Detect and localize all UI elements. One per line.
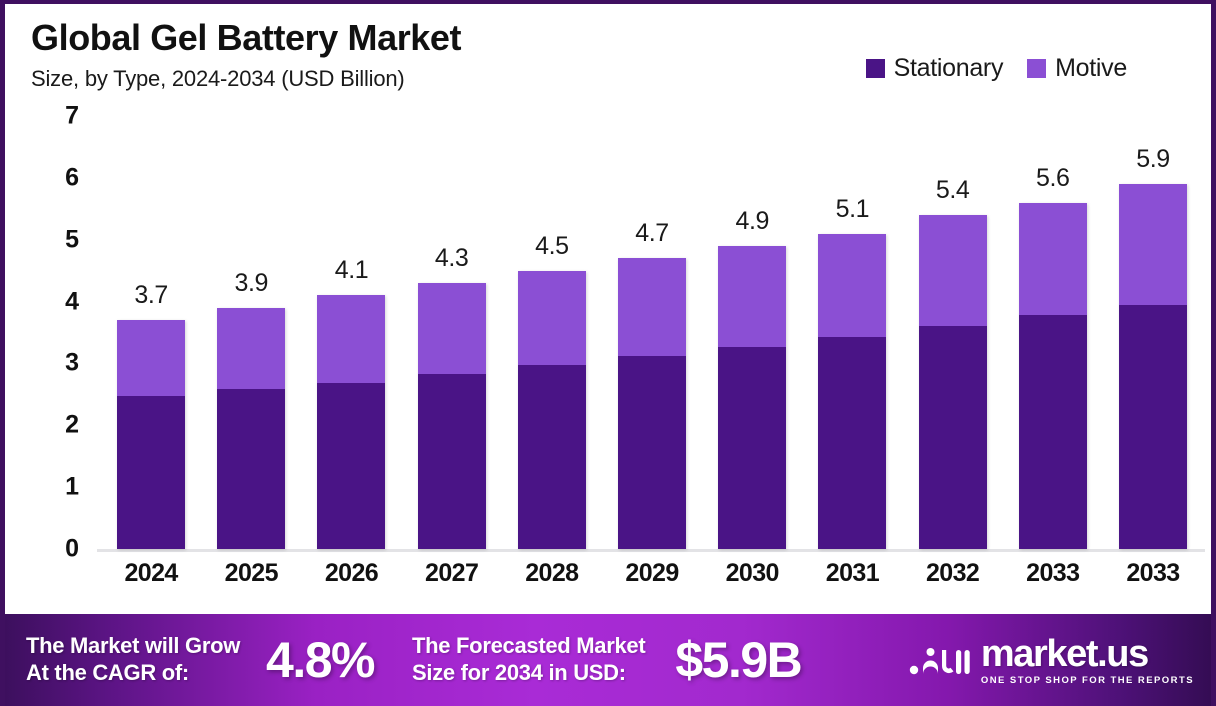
y-axis-tick: 7 [65,102,79,131]
bar-stack[interactable] [518,271,586,549]
logo-wordmark: market.us [981,635,1148,673]
bar-stack[interactable] [1119,184,1187,549]
bar-stack[interactable] [317,295,385,549]
x-axis-tick: 2027 [402,559,502,588]
bar-column[interactable]: 3.7 [101,116,201,549]
y-axis-tick: 1 [65,473,79,502]
bar-segment-stationary[interactable] [618,356,686,549]
bar-column[interactable]: 3.9 [201,116,301,549]
bar-segment-stationary[interactable] [818,337,886,549]
bar-segment-stationary[interactable] [1019,315,1087,549]
bar-column[interactable]: 4.3 [402,116,502,549]
bar-stack[interactable] [217,308,285,549]
bar-segment-motive[interactable] [1119,184,1187,305]
bar-column[interactable]: 5.9 [1103,116,1203,549]
bar-segment-motive[interactable] [718,246,786,347]
bar-stack[interactable] [919,215,987,549]
x-axis-tick: 2032 [903,559,1003,588]
bar-value-label: 5.4 [936,176,970,205]
bar-segment-motive[interactable] [818,234,886,337]
cagr-label: The Market will Grow At the CAGR of: [26,633,240,687]
bar-stack[interactable] [418,283,486,549]
bar-segment-stationary[interactable] [518,365,586,549]
x-axis-tick: 2029 [602,559,702,588]
bar-stack[interactable] [618,258,686,549]
x-axis-tick: 2028 [502,559,602,588]
bar-column[interactable]: 4.7 [602,116,702,549]
bar-value-label: 4.9 [735,207,769,236]
legend-label-stationary: Stationary [894,54,1004,83]
bar-segment-motive[interactable] [518,271,586,366]
bar-value-label: 4.7 [635,219,669,248]
cagr-label-line2: At the CAGR of: [26,660,240,687]
bar-stack[interactable] [718,246,786,549]
legend-swatch-stationary [866,59,885,78]
bar-segment-motive[interactable] [919,215,987,326]
cagr-label-line1: The Market will Grow [26,633,240,660]
y-axis: 76543210 [5,116,101,551]
forecast-size-label-line1: The Forecasted Market [412,633,645,660]
bar-value-label: 4.5 [535,232,569,261]
bar-segment-stationary[interactable] [217,389,285,549]
bar-value-label: 3.9 [235,269,269,298]
footer-banner: The Market will Grow At the CAGR of: 4.8… [0,614,1216,706]
forecast-size-value: $5.9B [675,631,801,689]
x-axis-baseline [97,549,1205,552]
chart-legend: Stationary Motive [866,54,1127,83]
x-axis: 2024202520262027202820292030203120322033… [101,559,1203,588]
bar-segment-motive[interactable] [317,295,385,382]
bar-value-label: 4.1 [335,256,369,285]
bar-column[interactable]: 5.1 [802,116,902,549]
y-axis-tick: 5 [65,225,79,254]
logo-tagline: ONE STOP SHOP FOR THE REPORTS [981,676,1194,686]
bar-segment-stationary[interactable] [1119,305,1187,549]
x-axis-tick: 2033 [1003,559,1103,588]
page-title: Global Gel Battery Market [31,18,1211,58]
bar-segment-motive[interactable] [1019,203,1087,316]
bar-segment-stationary[interactable] [418,374,486,549]
bar-stack[interactable] [117,320,185,549]
bar-segment-stationary[interactable] [718,347,786,549]
legend-swatch-motive [1027,59,1046,78]
x-axis-tick: 2031 [802,559,902,588]
cagr-value: 4.8% [266,631,374,689]
bar-segment-stationary[interactable] [317,383,385,549]
bar-stack[interactable] [818,234,886,549]
bar-segment-motive[interactable] [117,320,185,396]
bar-value-label: 4.3 [435,244,469,273]
x-axis-tick: 2030 [702,559,802,588]
market-us-logo-icon [909,640,971,680]
x-axis-tick: 2024 [101,559,201,588]
bar-value-label: 5.9 [1136,145,1170,174]
y-axis-tick: 0 [65,535,79,564]
x-axis-tick: 2025 [201,559,301,588]
bar-column[interactable]: 5.4 [903,116,1003,549]
legend-item-motive[interactable]: Motive [1027,54,1127,83]
logo-text: market.us ONE STOP SHOP FOR THE REPORTS [981,635,1194,686]
legend-item-stationary[interactable]: Stationary [866,54,1004,83]
bar-value-label: 5.6 [1036,164,1070,193]
bar-value-label: 3.7 [134,281,168,310]
forecast-size-label: The Forecasted Market Size for 2034 in U… [412,633,645,687]
chart-plot-area: 76543210 3.73.94.14.34.54.74.95.15.45.65… [5,116,1211,606]
bar-segment-stationary[interactable] [919,326,987,549]
bar-group: 3.73.94.14.34.54.74.95.15.45.65.9 [101,116,1203,549]
bar-segment-motive[interactable] [217,308,285,390]
legend-label-motive: Motive [1055,54,1127,83]
bar-segment-motive[interactable] [618,258,686,356]
y-axis-tick: 4 [65,287,79,316]
brand-logo[interactable]: market.us ONE STOP SHOP FOR THE REPORTS [909,635,1194,686]
infographic-root: Global Gel Battery Market Size, by Type,… [0,0,1216,706]
y-axis-tick: 3 [65,349,79,378]
bar-column[interactable]: 5.6 [1003,116,1103,549]
bar-segment-motive[interactable] [418,283,486,374]
bar-stack[interactable] [1019,203,1087,549]
bar-column[interactable]: 4.9 [702,116,802,549]
x-axis-tick: 2026 [301,559,401,588]
x-axis-tick: 2033 [1103,559,1203,588]
bar-segment-stationary[interactable] [117,396,185,549]
bar-column[interactable]: 4.5 [502,116,602,549]
y-axis-tick: 2 [65,411,79,440]
forecast-size-label-line2: Size for 2034 in USD: [412,660,645,687]
bar-value-label: 5.1 [836,195,870,224]
y-axis-tick: 6 [65,163,79,192]
bar-column[interactable]: 4.1 [301,116,401,549]
